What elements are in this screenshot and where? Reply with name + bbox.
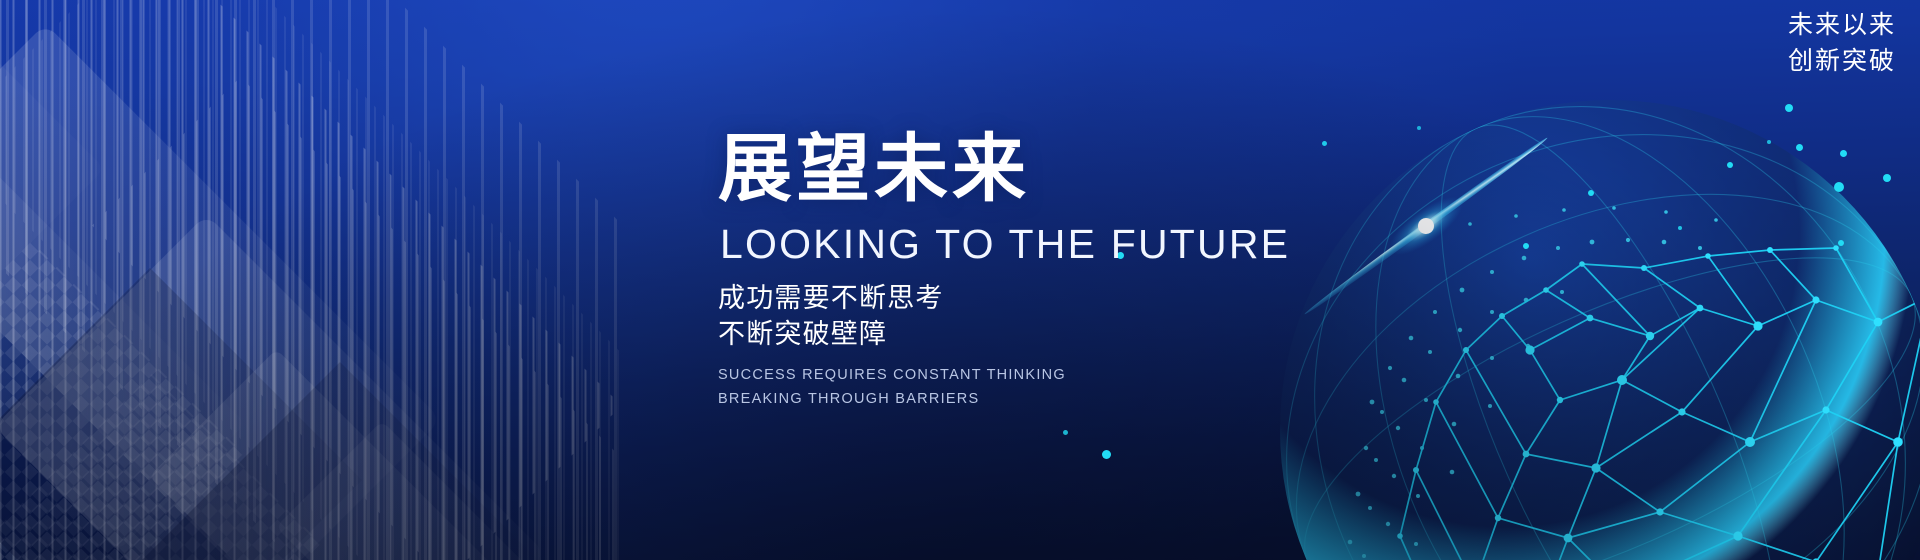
checker-pattern-block-2 xyxy=(0,374,321,560)
translucent-slab-1 xyxy=(0,24,441,560)
accent-dot xyxy=(1727,162,1733,168)
checker-pattern-block-1 xyxy=(0,241,244,560)
accent-dot xyxy=(1883,174,1891,182)
page-title: 展望未来 xyxy=(718,132,1478,206)
subtitle-chinese: 成功需要不断思考 不断突破壁障 xyxy=(718,281,1478,353)
translucent-slab-4 xyxy=(149,349,531,560)
shade-diamond-2 xyxy=(142,362,538,560)
translucent-slab-5 xyxy=(0,0,105,275)
subtitle-english: SUCCESS REQUIRES CONSTANT THINKING BREAK… xyxy=(718,364,1478,412)
subtitle-cn-line-2: 不断突破壁障 xyxy=(718,317,1478,353)
title-english: LOOKING TO THE FUTURE xyxy=(720,224,1478,265)
corner-slogan-line-1: 未来以来 xyxy=(1788,8,1896,44)
accent-dot xyxy=(1785,104,1793,112)
corner-slogan-line-2: 创新突破 xyxy=(1788,44,1896,80)
accent-dot xyxy=(1840,150,1847,157)
left-geometric-decor xyxy=(0,0,620,560)
subtitle-en-line-1: SUCCESS REQUIRES CONSTANT THINKING xyxy=(718,364,1478,388)
subtitle-en-line-2: BREAKING THROUGH BARRIERS xyxy=(718,388,1478,412)
accent-dot xyxy=(1796,144,1803,151)
accent-dot xyxy=(1834,182,1844,192)
translucent-slab-6 xyxy=(276,421,594,560)
diagonal-lines-group-3 xyxy=(0,0,620,560)
shade-diamond-1 xyxy=(0,268,362,560)
translucent-slab-2 xyxy=(0,119,246,550)
accent-dot xyxy=(1588,190,1594,196)
diagonal-lines-group-2 xyxy=(0,0,620,560)
accent-dot xyxy=(1102,450,1111,459)
translucent-slab-3 xyxy=(0,214,546,560)
promo-banner: 展望未来 LOOKING TO THE FUTURE 成功需要不断思考 不断突破… xyxy=(0,0,1920,560)
headline-block: 展望未来 LOOKING TO THE FUTURE 成功需要不断思考 不断突破… xyxy=(718,132,1478,412)
accent-dot xyxy=(1063,430,1068,435)
corner-slogan: 未来以来 创新突破 xyxy=(1788,8,1896,79)
accent-dot xyxy=(1417,126,1421,130)
diagonal-lines-group-1 xyxy=(0,0,620,560)
diagonal-lines-group-4 xyxy=(92,77,620,560)
accent-dot xyxy=(1678,226,1682,230)
accent-dot xyxy=(1767,140,1771,144)
accent-dot xyxy=(1838,240,1844,246)
accent-dot xyxy=(1523,243,1529,249)
subtitle-cn-line-1: 成功需要不断思考 xyxy=(718,281,1478,317)
